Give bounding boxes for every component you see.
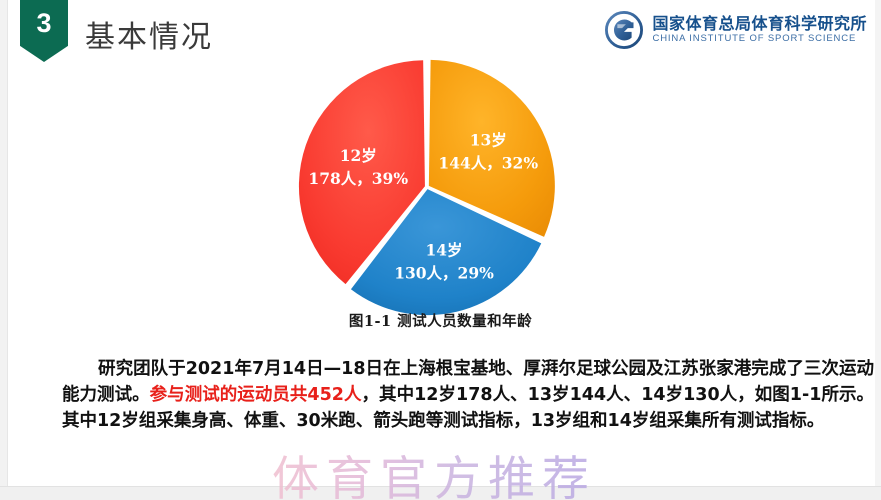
section-number-badge: 3 bbox=[20, 0, 68, 62]
pie-slice-14-label-line2: 130人，29% bbox=[394, 264, 494, 283]
pie-chart-svg: 13岁 144人，32% 14岁 130人，29% 12岁 178人，39% bbox=[298, 58, 556, 316]
chart-caption: 图1-1 测试人员数量和年龄 bbox=[0, 310, 881, 331]
institute-name-en: CHINA INSTITUTE OF SPORT SCIENCE bbox=[652, 34, 867, 44]
age-distribution-pie-chart: 13岁 144人，32% 14岁 130人，29% 12岁 178人，39% bbox=[298, 58, 556, 316]
body-text-highlight: 参与测试的运动员共452人 bbox=[150, 385, 362, 405]
pie-slice-12-label-line1: 12岁 bbox=[340, 146, 377, 165]
slide-left-gutter bbox=[0, 0, 8, 500]
body-paragraph: 研究团队于2021年7月14日—18日在上海根宝基地、厚湃尔足球公园及江苏张家港… bbox=[62, 356, 874, 434]
slide-bottom-bar bbox=[0, 486, 881, 500]
pie-slice-13-label-line1: 13岁 bbox=[470, 131, 507, 150]
pie-slice-14-label-line1: 14岁 bbox=[425, 241, 462, 260]
pie-slice-12-label-line2: 178人，39% bbox=[308, 169, 408, 188]
slide-canvas: 3 基本情况 国家体育总局体育科 bbox=[0, 0, 881, 500]
institute-name-cn: 国家体育总局体育科学研究所 bbox=[652, 16, 867, 33]
sport-science-institute-logo-icon bbox=[605, 11, 643, 49]
institute-logo-text: 国家体育总局体育科学研究所 CHINA INSTITUTE OF SPORT S… bbox=[652, 16, 867, 45]
institute-logo: 国家体育总局体育科学研究所 CHINA INSTITUTE OF SPORT S… bbox=[605, 8, 867, 52]
page-title: 基本情况 bbox=[85, 12, 213, 56]
pie-slice-13-label-line2: 144人，32% bbox=[438, 154, 538, 173]
slide-right-gutter bbox=[875, 0, 881, 500]
